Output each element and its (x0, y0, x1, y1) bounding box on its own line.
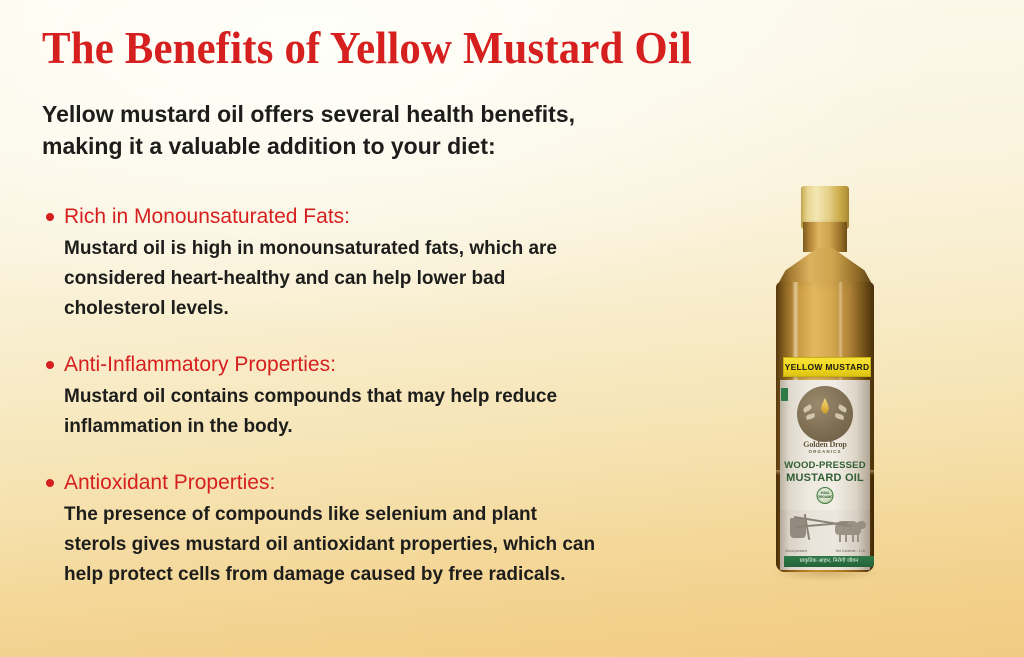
benefit-body-line: cholesterol levels. (64, 294, 742, 324)
benefit-body: Mustard oil is high in monounsaturated f… (64, 234, 742, 324)
hindi-tagline: प्राकृतिक आहार, निरोगी जीवन (800, 558, 858, 565)
bottle-front-label: Golden Drop ORGANICS WOOD-PRESSED MUSTAR… (780, 380, 870, 510)
bottle-lower-label: Wood-pressed Net Contents : 1 Ltr प्राकृ… (780, 510, 870, 570)
leaf-icon (835, 413, 845, 420)
wood-press-icon (790, 518, 806, 538)
label-green-tab (781, 388, 788, 401)
leaf-icon (806, 413, 816, 420)
bottle-cap (801, 186, 849, 224)
poster-canvas: The Benefits of Yellow Mustard Oil Yello… (0, 0, 1024, 657)
brand-logo-badge (797, 386, 853, 442)
sticker-label: YELLOW MUSTARD (785, 362, 870, 372)
india-organic-badge-icon: INDIA ORGANIC (817, 487, 834, 504)
bullet-dot-icon (46, 213, 54, 221)
benefit-body: Mustard oil contains compounds that may … (64, 382, 742, 442)
benefit-title: Anti-Inflammatory Properties: (64, 352, 742, 378)
intro-paragraph: Yellow mustard oil offers several health… (42, 74, 682, 162)
benefit-body-line: help protect cells from damage caused by… (64, 560, 742, 590)
benefit-title: Rich in Monounsaturated Fats: (64, 204, 742, 230)
benefit-body-line: The presence of compounds like selenium … (64, 500, 742, 530)
product-name: WOOD-PRESSED MUSTARD OIL (780, 460, 870, 485)
benefit-body-line: inflammation in the body. (64, 412, 742, 442)
benefit-title: Antioxidant Properties: (64, 470, 742, 496)
ox-leg (852, 534, 854, 542)
benefits-list: Rich in Monounsaturated Fats: Mustard oi… (42, 162, 742, 590)
label-meta-right: Net Contents : 1 Ltr (836, 549, 865, 554)
ox-leg (845, 534, 847, 542)
ox-leg (857, 534, 859, 542)
intro-line-1: Yellow mustard oil offers several health… (42, 98, 682, 130)
benefit-body-line: Mustard oil is high in monounsaturated f… (64, 234, 742, 264)
bullock-wood-press-illustration (786, 512, 864, 548)
bottle-shoulder (778, 248, 872, 284)
leaf-icon (837, 404, 847, 413)
oil-drop-icon (820, 398, 831, 414)
hindi-tagline-band: प्राकृतिक आहार, निरोगी जीवन (784, 556, 874, 567)
product-name-line-2: MUSTARD OIL (780, 472, 870, 485)
list-item: Antioxidant Properties: The presence of … (42, 470, 742, 590)
benefit-body-line: Mustard oil contains compounds that may … (64, 382, 742, 412)
bottle-neck (803, 222, 847, 252)
label-meta-row: Wood-pressed Net Contents : 1 Ltr (785, 549, 865, 554)
page-title: The Benefits of Yellow Mustard Oil (42, 0, 693, 74)
bullet-dot-icon (46, 479, 54, 487)
bullet-dot-icon (46, 361, 54, 369)
bottle-body: YELLOW MUSTARD Golden Drop ORGANICS WOOD… (776, 282, 874, 572)
ox-leg (839, 534, 841, 542)
product-name-line-1: WOOD-PRESSED (780, 460, 870, 472)
benefit-body-line: considered heart-healthy and can help lo… (64, 264, 742, 294)
list-item: Anti-Inflammatory Properties: Mustard oi… (42, 352, 742, 442)
intro-line-2: making it a valuable addition to your di… (42, 130, 682, 162)
list-item: Rich in Monounsaturated Fats: Mustard oi… (42, 204, 742, 324)
brand-name: Golden Drop (780, 440, 870, 449)
ox-icon (835, 521, 861, 535)
benefit-body-line: sterols gives mustard oil antioxidant pr… (64, 530, 742, 560)
label-meta-left: Wood-pressed (785, 549, 807, 554)
text-column: The Benefits of Yellow Mustard Oil Yello… (42, 0, 742, 590)
leaf-icon (802, 404, 812, 413)
product-bottle-image: YELLOW MUSTARD Golden Drop ORGANICS WOOD… (770, 186, 880, 576)
brand-subtitle: ORGANICS (780, 449, 870, 455)
yellow-mustard-sticker: YELLOW MUSTARD (783, 357, 871, 377)
benefit-body: The presence of compounds like selenium … (64, 500, 742, 590)
